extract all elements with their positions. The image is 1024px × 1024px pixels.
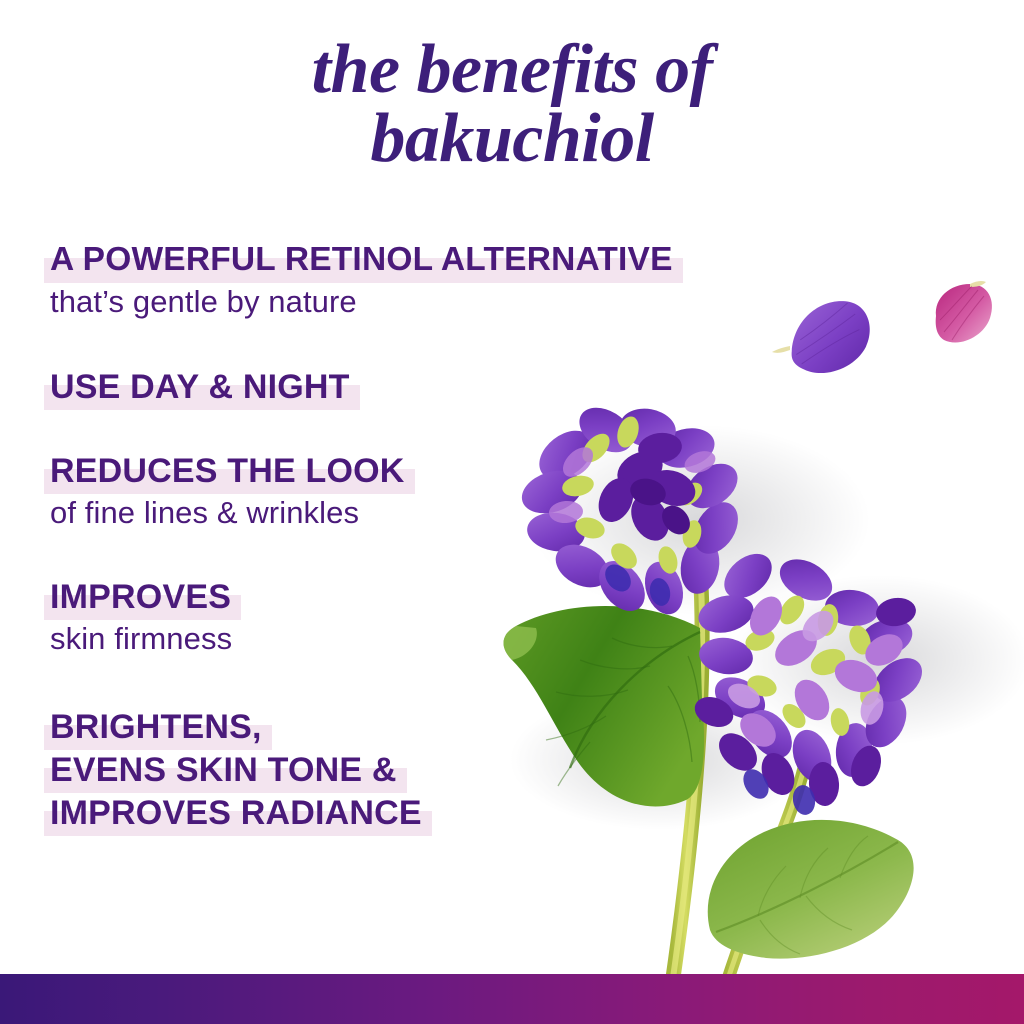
benefit-headline: A POWERFUL RETINOL ALTERNATIVE <box>50 240 673 280</box>
bottom-gradient-bar <box>0 974 1024 1024</box>
benefit-subline: skin firmness <box>50 619 930 659</box>
benefits-list: A POWERFUL RETINOL ALTERNATIVE that’s ge… <box>50 240 930 863</box>
page-title: the benefits of bakuchiol <box>0 36 1024 173</box>
benefit-item-brightens-evens-radiance: BRIGHTENS, EVENS SKIN TONE & IMPROVES RA… <box>50 707 930 833</box>
benefit-headline-line-2: EVENS SKIN TONE & <box>50 750 397 790</box>
benefit-headline-line-3: IMPROVES RADIANCE <box>50 793 422 833</box>
title-line-2: bakuchiol <box>0 105 1024 174</box>
benefit-item-skin-firmness: IMPROVES skin firmness <box>50 577 930 659</box>
benefit-item-day-and-night: USE DAY & NIGHT <box>50 367 930 407</box>
loose-petal-magenta <box>936 281 992 343</box>
benefit-item-reduces-lines: REDUCES THE LOOK of fine lines & wrinkle… <box>50 451 930 533</box>
benefit-item-retinol-alternative: A POWERFUL RETINOL ALTERNATIVE that’s ge… <box>50 240 930 321</box>
benefit-headline: REDUCES THE LOOK <box>50 451 405 491</box>
title-line-1: the benefits of <box>0 36 1024 105</box>
benefit-subline: that’s gentle by nature <box>50 282 930 322</box>
benefit-subline: of fine lines & wrinkles <box>50 493 930 533</box>
benefit-headline: IMPROVES <box>50 577 231 617</box>
benefit-headline: USE DAY & NIGHT <box>50 367 350 407</box>
benefit-headline-line-1: BRIGHTENS, <box>50 707 262 747</box>
